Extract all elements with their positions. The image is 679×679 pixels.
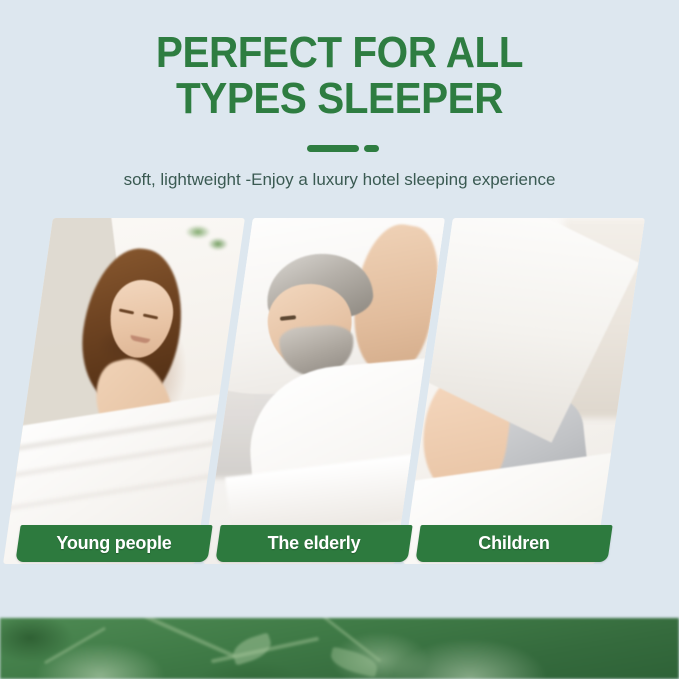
photo-child-sleeping	[403, 218, 645, 564]
header: PERFECT FOR ALL TYPES SLEEPER	[0, 0, 679, 122]
plant-decor	[176, 218, 236, 274]
divider-bar-long	[307, 145, 359, 152]
page-title: PERFECT FOR ALL TYPES SLEEPER	[27, 0, 652, 122]
card-children[interactable]	[403, 218, 645, 564]
card-label-the-elderly[interactable]: The elderly	[215, 525, 412, 562]
card-photo-frame	[203, 218, 445, 564]
divider-bar-short	[364, 145, 379, 152]
foliage-band	[0, 618, 679, 679]
plant-stem	[44, 627, 106, 665]
card-photo-frame	[403, 218, 645, 564]
card-label-text: Children	[418, 525, 610, 562]
photo-elderly-man-sleeping	[203, 218, 445, 564]
card-gallery	[0, 218, 679, 568]
card-label-text: Young people	[18, 525, 210, 562]
card-photo-frame	[3, 218, 245, 564]
headline-line-1: PERFECT FOR ALL	[156, 28, 523, 77]
photo-young-woman-sleeping	[3, 218, 245, 564]
subtitle: soft, lightweight -Enjoy a luxury hotel …	[0, 168, 679, 192]
plant-stem	[124, 618, 235, 658]
promo-banner: PERFECT FOR ALL TYPES SLEEPER soft, ligh…	[0, 0, 679, 679]
leaf-icon	[328, 646, 379, 677]
card-the-elderly[interactable]	[203, 218, 445, 564]
card-label-text: The elderly	[218, 525, 410, 562]
headline-line-2: TYPES SLEEPER	[27, 76, 652, 122]
card-label-children[interactable]: Children	[415, 525, 612, 562]
divider	[0, 144, 679, 154]
card-label-young-people[interactable]: Young people	[15, 525, 212, 562]
card-young-people[interactable]	[3, 218, 245, 564]
leaf-icon	[230, 632, 275, 665]
